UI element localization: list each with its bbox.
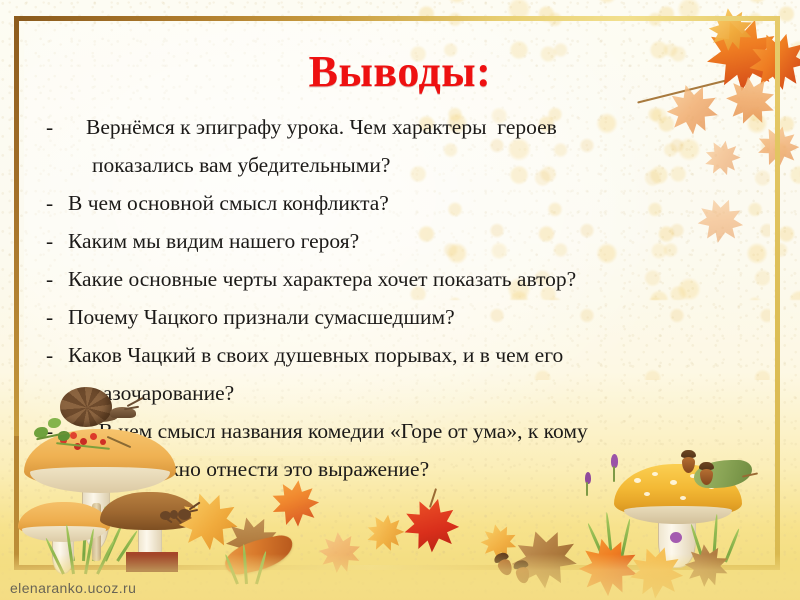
list-item-text: Вернёмся к эпиграфу урока. Чем характеры… [68, 108, 758, 146]
bullet-dash: - [46, 222, 68, 260]
page-title: Выводы: [0, 46, 800, 97]
watermark-text: elenaranko.ucoz.ru [10, 580, 136, 596]
list-item: разочарование? [46, 374, 758, 412]
bullet-dash: - [46, 412, 68, 450]
list-item: можно отнести это выражение? [46, 450, 758, 488]
list-item: - Какие основные черты характера хочет п… [46, 260, 758, 298]
list-item-text: можно отнести это выражение? [68, 450, 758, 488]
list-item: - Почему Чацкого признали сумасшедшим? [46, 298, 758, 336]
slide-canvas: Выводы: - Вернёмся к эпиграфу урока. Чем… [0, 0, 800, 600]
list-item-text: Каков Чацкий в своих душевных порывах, и… [68, 336, 758, 374]
list-item: - Вернёмся к эпиграфу урока. Чем характе… [46, 108, 758, 146]
list-item-text: Каким мы видим нашего героя? [68, 222, 758, 260]
list-item-text: - В чем смысл названия комедии «Горе от … [68, 412, 758, 450]
bullet-dash: - [46, 298, 68, 336]
list-item: - Каков Чацкий в своих душевных порывах,… [46, 336, 758, 374]
list-item-text: Почему Чацкого признали сумасшедшим? [68, 298, 758, 336]
bullet-dash: - [46, 184, 68, 222]
list-item: - Каким мы видим нашего героя? [46, 222, 758, 260]
bullet-dash: - [46, 336, 68, 374]
list-item: - В чем основной смысл конфликта? [46, 184, 758, 222]
list-item-text: разочарование? [68, 374, 758, 412]
list-item-text: Какие основные черты характера хочет пок… [68, 260, 758, 298]
bullet-dash: - [46, 260, 68, 298]
list-item-text: показались вам убедительными? [68, 146, 758, 184]
conclusion-question-list: - Вернёмся к эпиграфу урока. Чем характе… [46, 108, 758, 526]
list-item: - - В чем смысл названия комедии «Горе о… [46, 412, 758, 450]
bullet-dash: - [46, 108, 68, 146]
list-item-text: В чем основной смысл конфликта? [68, 184, 758, 222]
list-item: показались вам убедительными? [46, 146, 758, 184]
list-item: - [46, 488, 758, 526]
